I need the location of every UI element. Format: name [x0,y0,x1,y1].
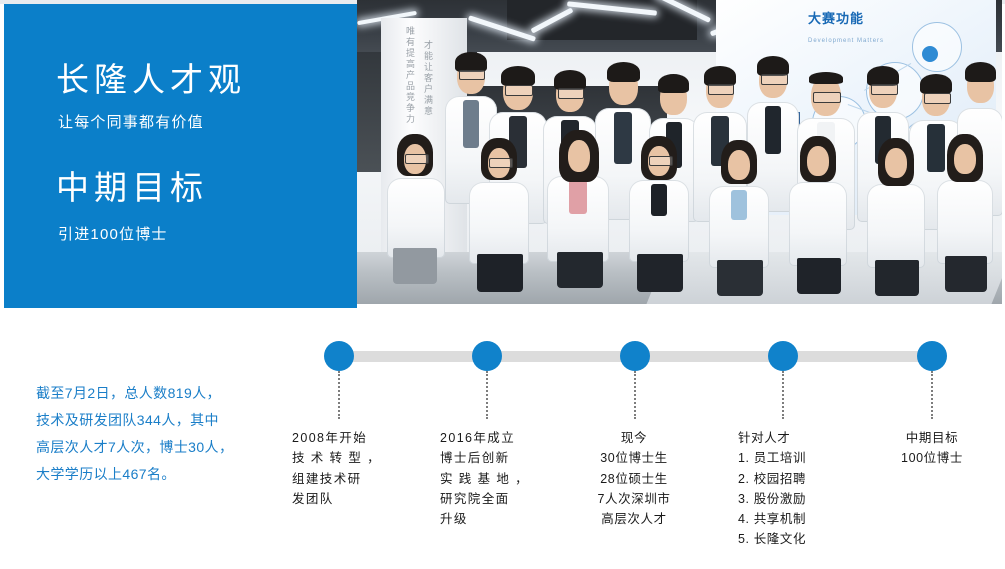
timeline-node-5[interactable] [917,341,947,371]
wall-slogan-line-1: 唯有提高产品竞争力 [401,26,417,125]
milestone-timeline: 2008年开始 技 术 转 型 ， 组建技术研 发团队 2016年成立 博士后创… [0,330,1005,569]
panel-title-main2: 中期目标 [56,170,208,206]
poster-title: 大赛功能 [808,8,864,27]
timeline-connector-1 [338,371,340,419]
timeline-connector-5 [931,371,933,419]
title-panel: 长隆人才观 让每个同事都有价值 中期目标 引进100位博士 [4,4,357,308]
timeline-label-3: 现今 30位博士生 28位硕士生 7人次深圳市 高层次人才 [578,428,690,529]
photo-scene: 大赛功能 Development Matters 唯有提高产品竞争力 才能让客户… [357,0,1002,304]
timeline-label-5: 中期目标 100位博士 [876,428,988,469]
panel-title-sub: 让每个同事都有价值 [58,114,204,132]
timeline-connector-2 [486,371,488,419]
timeline-label-1: 2008年开始 技 术 转 型 ， 组建技术研 发团队 [292,428,410,509]
timeline-label-2: 2016年成立 博士后创新 实 践 基 地 ， 研究院全面 升级 [440,428,558,529]
timeline-node-1[interactable] [324,341,354,371]
timeline-label-4: 针对人才 1. 员工培训 2. 校园招聘 3. 股份激励 4. 共享机制 5. … [738,428,850,550]
slide-canvas: 长隆人才观 让每个同事都有价值 中期目标 引进100位博士 大赛功能 [0,0,1005,569]
poster-node [912,22,962,72]
timeline-connector-4 [782,371,784,419]
wall-slogan-line-2: 才能让客户满意 [419,40,435,117]
timeline-node-3[interactable] [620,341,650,371]
timeline-connector-3 [634,371,636,419]
team-photo: 大赛功能 Development Matters 唯有提高产品竞争力 才能让客户… [357,0,1002,304]
panel-title-main: 长隆人才观 [56,62,246,98]
poster-subtitle: Development Matters [808,38,884,44]
panel-title-sub2: 引进100位博士 [58,226,168,244]
timeline-node-4[interactable] [768,341,798,371]
timeline-node-2[interactable] [472,341,502,371]
poster-node [922,46,938,62]
